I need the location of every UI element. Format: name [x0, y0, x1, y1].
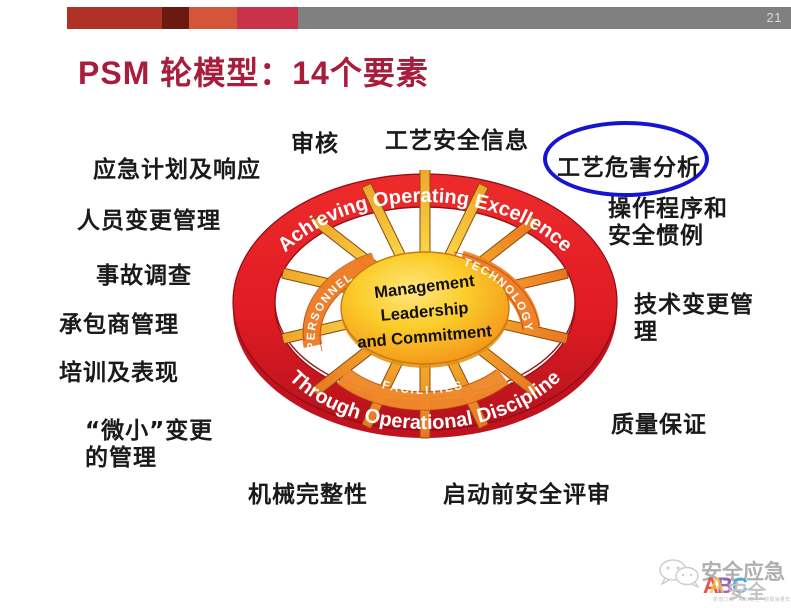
header-strip-segment-2 — [162, 7, 189, 29]
label-mechanical-integrity: 机械完整性 — [248, 482, 368, 509]
label-management-of-technology-change: 技术变更管 理 — [634, 292, 754, 346]
label-minor-change-management: “微小”变更 的管理 — [85, 418, 213, 472]
header-strip-segment-5 — [298, 7, 791, 29]
label-contractor-management: 承包商管理 — [59, 312, 179, 339]
psm-wheel-diagram: Management Leadership and Commitment Ach… — [225, 170, 625, 442]
svg-text:A: A — [709, 573, 725, 598]
header-strip-segment-4 — [237, 7, 298, 29]
label-training-and-performance: 培训及表现 — [59, 360, 179, 387]
header-strip-segment-3 — [189, 7, 237, 29]
label-emergency-planning: 应急计划及响应 — [93, 157, 261, 184]
header-color-strip — [67, 7, 791, 29]
label-process-safety-information: 工艺安全信息 — [385, 128, 529, 155]
label-pre-startup-safety-review: 启动前安全评审 — [443, 482, 611, 509]
label-audit: 审核 — [291, 131, 339, 158]
label-management-of-personnel-change: 人员变更管理 — [77, 208, 221, 235]
watermark: 安全应急 A B C A 安全 新增订阅 “ABC安全” 获取海量安全资料 — [655, 550, 786, 605]
label-incident-investigation: 事故调查 — [96, 263, 192, 290]
label-operating-procedures: 操作程序和 安全惯例 — [608, 196, 728, 250]
header-strip-segment-1 — [67, 7, 162, 29]
wechat-bubbles-icon — [657, 558, 701, 593]
watermark-tagline: 新增订阅 “ABC安全” 获取海量安全资料 — [713, 596, 791, 603]
slide-header-bar: 21 — [0, 0, 791, 30]
label-quality-assurance: 质量保证 — [611, 412, 707, 439]
label-process-hazard-analysis: 工艺危害分析 — [557, 148, 701, 182]
slide-canvas: 21 PSM 轮模型：14个要素 — [0, 0, 791, 608]
page-title: PSM 轮模型：14个要素 — [78, 48, 429, 94]
page-number: 21 — [767, 8, 782, 28]
